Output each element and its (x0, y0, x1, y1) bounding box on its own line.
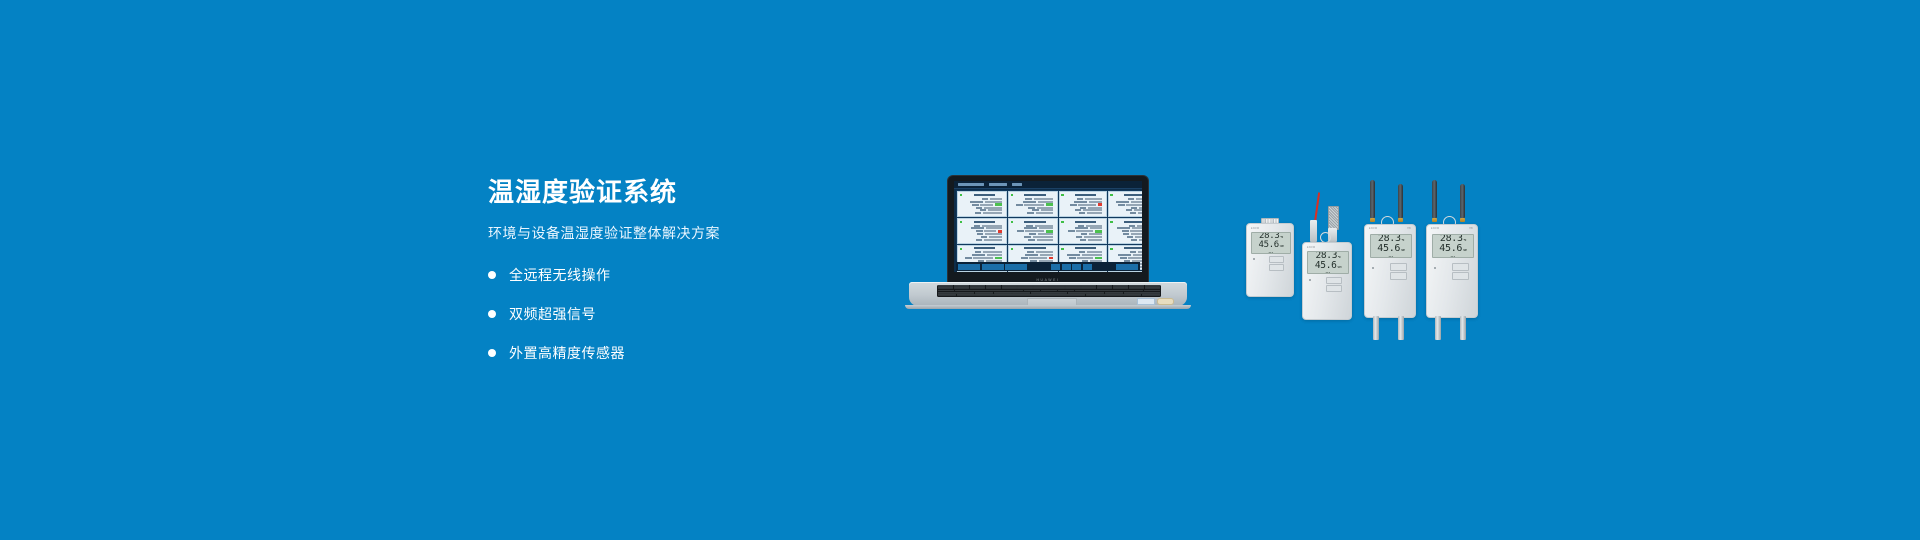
card-row-value (1088, 239, 1102, 241)
card-data-row (1067, 225, 1104, 227)
device-brand-label: ENOW (1307, 247, 1315, 249)
card-data-row (1116, 236, 1142, 238)
card-status-led-icon (1061, 221, 1063, 223)
card-title (1124, 194, 1142, 196)
card-data-row (1116, 257, 1142, 259)
lcd-humidity-unit: %RH (1401, 250, 1405, 253)
device-lcd-display: 28.3 ℃ 45.6 %RH ▪▪▪ (1251, 232, 1291, 254)
laptop-keyboard[interactable] (937, 285, 1161, 297)
device-antenna-right-icon (1398, 184, 1403, 218)
card-data-row (1067, 207, 1104, 209)
card-row-label (965, 257, 972, 259)
laptop-fingerprint-sticker (1157, 298, 1174, 305)
card-row-value (1039, 227, 1053, 229)
card-data-row (1116, 254, 1142, 256)
card-row-value (1025, 230, 1044, 232)
card-data-row (1116, 251, 1142, 253)
device-antenna-left-icon (1432, 180, 1437, 218)
card-data-row (965, 257, 1004, 259)
card-row-label (980, 209, 987, 211)
bullet-dot-icon (488, 349, 496, 357)
card-title (974, 247, 996, 249)
card-row-value (1083, 209, 1102, 211)
card-row-label (1068, 230, 1075, 232)
device-button-down[interactable] (1390, 272, 1407, 280)
card-row-label (1021, 257, 1028, 259)
device-body: ENOW 28.3 ℃ 45.6 %RH ▪▪▪ (1246, 223, 1294, 297)
card-status-led-icon (1011, 248, 1013, 250)
lcd-humidity-unit: %RH (1337, 267, 1341, 270)
card-row-label (1131, 239, 1138, 241)
card-data-row (965, 209, 1004, 211)
feature-item-2: 双频超强信号 (488, 304, 888, 324)
card-row-label (1129, 225, 1136, 227)
card-row-value (1133, 254, 1142, 256)
card-row-label (1027, 251, 1034, 253)
page-title: 温湿度验证系统 (488, 178, 888, 207)
device-brand-label: ENOW (1251, 228, 1259, 230)
card-row-value (1024, 204, 1044, 206)
device-button-up[interactable] (1326, 277, 1342, 284)
card-data-row (1116, 227, 1142, 229)
card-data-row (1067, 209, 1104, 211)
card-row-value (984, 207, 1002, 209)
card-data-row (1016, 209, 1055, 211)
card-row-value (1136, 198, 1142, 200)
monitoring-card[interactable] (1059, 191, 1107, 217)
card-data-row (1116, 230, 1142, 232)
card-row-label (981, 236, 988, 238)
card-data-row (1016, 239, 1055, 241)
card-row-value (980, 204, 993, 206)
card-row-label (1025, 198, 1032, 200)
toolbar-button-refresh[interactable] (958, 264, 980, 270)
card-row-value (1130, 230, 1142, 232)
card-data-row (965, 225, 1004, 227)
lcd-humidity-unit: %RH (1280, 246, 1284, 249)
titlebar-menu-history[interactable] (989, 183, 1007, 187)
device-probe-logger: ENOW 28.3 ℃ 45.6 %RH ▪▪▪ (1302, 204, 1352, 320)
card-data-row (1016, 207, 1055, 209)
card-row-label (977, 233, 984, 235)
toolbar-button-exit[interactable] (1116, 264, 1138, 270)
titlebar-menu-settings[interactable] (1012, 183, 1022, 187)
card-row-label (1116, 201, 1130, 203)
card-title (974, 221, 996, 223)
keyboard-key[interactable] (1104, 294, 1122, 296)
card-data-row (1016, 233, 1055, 235)
card-row-label (1077, 198, 1084, 200)
device-wireless-validator-b: ENOW HB 28.3 ℃ 45.6 %RH ▪▪▪ (1426, 180, 1478, 318)
card-status-led-icon (1110, 194, 1112, 196)
card-data-row (1067, 257, 1104, 259)
hero-banner: 温湿度验证系统 环境与设备温湿度验证整体解决方案 全远程无线操作 双频超强信号 … (0, 0, 1920, 540)
card-row-value (1087, 212, 1102, 214)
card-status-led-icon (1061, 194, 1063, 196)
monitoring-card[interactable] (1059, 271, 1107, 272)
card-row-value (986, 227, 1002, 229)
lcd-humidity-value: 45.6 (1258, 241, 1278, 250)
keyboard-row (938, 294, 1160, 296)
card-row-label (976, 230, 983, 232)
card-data-row (1116, 239, 1142, 241)
card-row-label (1080, 207, 1087, 209)
card-row-label (975, 251, 982, 253)
card-row-value (1138, 212, 1142, 214)
card-row-label (1079, 212, 1086, 214)
card-row-label (1078, 225, 1085, 227)
lcd-temperature-unit: ℃ (1338, 257, 1341, 260)
card-ok-badge (1046, 203, 1053, 205)
card-row-value (1034, 198, 1053, 200)
lcd-humidity-value: 45.6 (1377, 244, 1400, 254)
device-model-tag: HB (1469, 228, 1473, 230)
keyboard-key[interactable] (938, 294, 956, 296)
card-row-label (1075, 227, 1089, 229)
card-row-label (1069, 257, 1076, 259)
card-row-label (1130, 212, 1137, 214)
card-ok-badge (995, 257, 1002, 259)
device-antenna-connector-right (1398, 218, 1403, 222)
laptop-spec-sticker (1137, 298, 1155, 305)
card-row-label (1016, 204, 1023, 206)
card-row-label (1076, 236, 1083, 238)
card-row-value (1138, 251, 1142, 253)
card-row-value (1084, 236, 1102, 238)
card-data-row (1067, 201, 1104, 203)
card-row-value (1036, 251, 1053, 253)
card-row-label (1029, 233, 1036, 235)
device-lcd-display: 28.3 ℃ 45.6 %RH ▪▪▪ (1432, 234, 1474, 258)
card-row-label (1025, 254, 1039, 256)
card-row-label (975, 212, 982, 214)
card-row-value (1040, 254, 1053, 256)
pagination-last[interactable] (1083, 264, 1092, 270)
card-row-value (1090, 227, 1102, 229)
card-title (1075, 247, 1096, 249)
keyboard-key[interactable] (994, 294, 1085, 296)
feature-label: 全远程无线操作 (509, 265, 611, 285)
lcd-temperature-unit: ℃ (1464, 240, 1467, 243)
card-data-row (1016, 201, 1055, 203)
card-row-value (982, 225, 1002, 227)
lcd-humidity-value: 45.6 (1439, 244, 1462, 254)
card-status-led-icon (1011, 194, 1013, 196)
laptop-front-lip (905, 305, 1191, 309)
card-ok-badge (1095, 257, 1102, 259)
device-brand-label: ENOW (1431, 228, 1439, 230)
pagination-first[interactable] (1051, 264, 1060, 270)
card-data-row (1067, 254, 1104, 256)
device-probe-left (1435, 316, 1441, 340)
device-button-up[interactable] (1452, 263, 1469, 271)
card-row-value (1088, 207, 1102, 209)
card-alarm-badge (1098, 203, 1102, 205)
card-row-label (982, 198, 989, 200)
card-row-value (1089, 233, 1102, 235)
toolbar-button-alarm-log[interactable] (1005, 264, 1027, 270)
device-brand-label: ENOW (1369, 228, 1377, 230)
device-probe-right (1460, 316, 1466, 340)
card-data-row (965, 251, 1004, 253)
card-data-row (1067, 236, 1104, 238)
card-row-value (983, 251, 1002, 253)
card-data-row (1116, 233, 1142, 235)
device-probe-wire (1314, 192, 1320, 222)
keyboard-key[interactable] (957, 294, 975, 296)
card-title (1124, 247, 1142, 249)
monitoring-card[interactable] (957, 271, 1007, 272)
card-ok-badge (1095, 230, 1102, 232)
card-row-label (976, 207, 983, 209)
card-data-row (965, 230, 1004, 232)
card-row-value (1128, 257, 1142, 259)
lcd-humidity-row: 45.6 %RH (1377, 244, 1404, 254)
screen-toolbar (956, 262, 1140, 271)
monitoring-card[interactable] (1059, 218, 1107, 244)
card-status-led-icon (960, 194, 962, 196)
laptop-deck (909, 282, 1187, 306)
lcd-secondary-row: ▪▪▪ (1389, 255, 1394, 258)
card-title (1075, 221, 1096, 223)
card-data-row (965, 239, 1004, 241)
device-model-tag: HB (1407, 228, 1411, 230)
pagination-page-2[interactable] (1072, 264, 1081, 270)
card-row-label (970, 201, 984, 203)
device-status-led-icon (1434, 267, 1436, 269)
card-row-label (974, 225, 981, 227)
laptop-brand-label: HUAWEI (1036, 278, 1059, 282)
card-row-label (1028, 207, 1035, 209)
card-status-led-icon (960, 221, 962, 223)
card-row-label (1024, 227, 1038, 229)
feature-item-3: 外置高精度传感器 (488, 343, 888, 363)
card-title (1124, 221, 1142, 223)
card-row-value (983, 212, 1002, 214)
card-status-led-icon (1110, 248, 1112, 250)
device-probe-right (1398, 316, 1404, 340)
card-row-label (1130, 251, 1137, 253)
card-data-row (1016, 254, 1055, 256)
monitoring-card[interactable] (957, 191, 1007, 217)
card-title (1075, 194, 1096, 196)
card-row-value (985, 233, 1002, 235)
card-row-value (1135, 236, 1142, 238)
feature-label: 外置高精度传感器 (509, 343, 625, 363)
card-row-value (1134, 209, 1142, 211)
card-row-label (1017, 230, 1024, 232)
lcd-humidity-row: 45.6 %RH (1439, 244, 1466, 254)
device-button-down[interactable] (1452, 272, 1469, 280)
card-row-label (1070, 204, 1077, 206)
card-row-label (1080, 239, 1087, 241)
card-row-value (989, 236, 1002, 238)
card-data-row (1016, 227, 1055, 229)
card-row-value (1131, 233, 1142, 235)
monitoring-card[interactable] (1108, 271, 1142, 272)
card-row-value (1038, 233, 1053, 235)
card-row-label (1118, 204, 1125, 206)
keyboard-key[interactable] (1123, 294, 1141, 296)
device-antenna-connector-left (1370, 218, 1375, 222)
lcd-secondary-row: ▪▪▪ (1451, 255, 1456, 258)
card-status-led-icon (960, 248, 962, 250)
toolbar-button-export[interactable] (982, 264, 1004, 270)
lcd-humidity-row: 45.6 %RH (1315, 261, 1341, 271)
card-data-row (965, 236, 1004, 238)
card-title (1024, 221, 1046, 223)
device-status-led-icon (1309, 279, 1311, 281)
card-data-row (965, 207, 1004, 209)
card-data-row (1067, 227, 1104, 229)
card-row-value (1037, 239, 1053, 241)
titlebar-menu-monitoring[interactable] (958, 183, 984, 187)
card-row-label (1123, 233, 1130, 235)
card-data-row (1016, 251, 1055, 253)
card-row-label (1028, 239, 1035, 241)
card-row-value (1137, 225, 1142, 227)
card-data-row (1116, 207, 1142, 209)
lcd-humidity-unit: %RH (1463, 250, 1467, 253)
card-row-value (1126, 204, 1142, 206)
sensor-device-group: ENOW 28.3 ℃ 45.6 %RH ▪▪▪ (1240, 176, 1530, 376)
device-antenna-right-icon (1460, 184, 1465, 218)
card-data-row (1016, 230, 1055, 232)
card-title (1024, 194, 1046, 196)
card-row-value (1033, 236, 1053, 238)
card-data-row (1016, 236, 1055, 238)
card-row-value (973, 257, 993, 259)
keyboard-key[interactable] (1142, 294, 1160, 296)
card-row-label (1126, 209, 1133, 211)
card-data-row (1116, 225, 1142, 227)
card-row-value (1086, 225, 1102, 227)
feature-list: 全远程无线操作 双频超强信号 外置高精度传感器 (488, 265, 888, 363)
card-row-value (984, 239, 1002, 241)
lcd-temperature-unit: ℃ (1280, 237, 1283, 240)
device-button-down[interactable] (1326, 285, 1342, 292)
card-row-value (987, 254, 1002, 256)
card-data-row (1116, 198, 1142, 200)
card-title (1024, 247, 1046, 249)
device-lcd-display: 28.3 ℃ 45.6 %RH ▪▪▪ (1307, 251, 1349, 274)
page-subtitle: 环境与设备温湿度验证整体解决方案 (488, 223, 888, 243)
card-row-value (1035, 225, 1053, 227)
monitoring-card[interactable] (1008, 191, 1058, 217)
device-probe-stem-2 (1310, 220, 1317, 242)
card-data-row (965, 212, 1004, 214)
feature-label: 双频超强信号 (509, 304, 596, 324)
lcd-temperature-unit: ℃ (1402, 240, 1405, 243)
laptop-screen (954, 181, 1142, 272)
card-row-value (1041, 209, 1053, 211)
card-data-row (965, 254, 1004, 256)
card-row-label (1074, 201, 1088, 203)
laptop-base (898, 282, 1198, 312)
app-titlebar (954, 181, 1142, 189)
pagination-page-1[interactable] (1062, 264, 1071, 270)
card-row-value (1078, 204, 1096, 206)
card-status-led-icon (1061, 248, 1063, 250)
card-data-row (1016, 198, 1055, 200)
card-row-value (1087, 251, 1102, 253)
card-row-value (988, 209, 1002, 211)
card-data-row (965, 203, 1004, 205)
card-row-label (976, 239, 983, 241)
laptop-lid: HUAWEI (948, 176, 1148, 286)
monitoring-card[interactable] (1108, 191, 1142, 217)
lcd-humidity-row: 45.6 %RH (1258, 241, 1283, 250)
card-row-label (1120, 257, 1127, 259)
monitoring-card[interactable] (1008, 218, 1058, 244)
monitoring-card[interactable] (1008, 271, 1058, 272)
card-data-row (1016, 225, 1055, 227)
card-row-value (984, 230, 996, 232)
card-data-row (1116, 201, 1142, 203)
device-body: ENOW 28.3 ℃ 45.6 %RH ▪▪▪ (1302, 242, 1352, 320)
card-data-row (1067, 212, 1104, 214)
card-row-value (1037, 207, 1053, 209)
card-row-value (990, 198, 1002, 200)
card-alarm-badge (998, 230, 1002, 232)
feature-item-1: 全远程无线操作 (488, 265, 888, 285)
device-button-up[interactable] (1390, 263, 1407, 271)
bullet-dot-icon (488, 310, 496, 318)
device-button-down[interactable] (1269, 264, 1284, 271)
card-row-label (1024, 236, 1031, 238)
card-row-label (1127, 236, 1134, 238)
card-row-label (1023, 201, 1037, 203)
keyboard-key[interactable] (975, 294, 993, 296)
lcd-secondary-row: ▪▪▪ (1326, 271, 1331, 274)
device-antenna-connector-left (1432, 218, 1437, 222)
device-status-led-icon (1372, 267, 1374, 269)
device-wireless-validator-a: ENOW HB 28.3 ℃ 45.6 %RH ▪▪▪ (1364, 180, 1416, 318)
hero-copy-block: 温湿度验证系统 环境与设备温湿度验证整体解决方案 全远程无线操作 双频超强信号 … (488, 178, 888, 382)
card-data-row (1067, 203, 1104, 205)
card-data-row (1016, 212, 1055, 214)
bullet-dot-icon (488, 271, 496, 279)
card-row-label (1081, 233, 1088, 235)
card-data-row (1067, 233, 1104, 235)
card-row-value (1036, 212, 1053, 214)
card-row-value (1132, 227, 1142, 229)
card-row-value (1029, 257, 1047, 259)
card-row-label (1118, 254, 1132, 256)
lcd-humidity-value: 45.6 (1315, 261, 1337, 271)
lcd-secondary-row: ▪▪▪ (1269, 251, 1274, 254)
device-antenna-left-icon (1370, 180, 1375, 218)
device-button-up[interactable] (1269, 256, 1284, 263)
card-ok-badge (1046, 230, 1053, 232)
card-row-label (972, 204, 979, 206)
device-lcd-display: 28.3 ℃ 45.6 %RH ▪▪▪ (1370, 234, 1412, 258)
card-row-label (1067, 254, 1081, 256)
card-data-row (965, 198, 1004, 200)
card-row-label (1075, 209, 1082, 211)
card-data-row (965, 233, 1004, 235)
monitoring-card[interactable] (1108, 218, 1142, 244)
card-row-label (1131, 207, 1138, 209)
card-row-value (985, 201, 1002, 203)
card-data-row (1067, 251, 1104, 253)
monitoring-card-grid (956, 190, 1140, 261)
card-row-value (1139, 207, 1142, 209)
monitoring-card[interactable] (957, 218, 1007, 244)
card-data-row (1067, 239, 1104, 241)
keyboard-key[interactable] (1086, 294, 1104, 296)
device-antenna-connector-right (1460, 218, 1465, 222)
